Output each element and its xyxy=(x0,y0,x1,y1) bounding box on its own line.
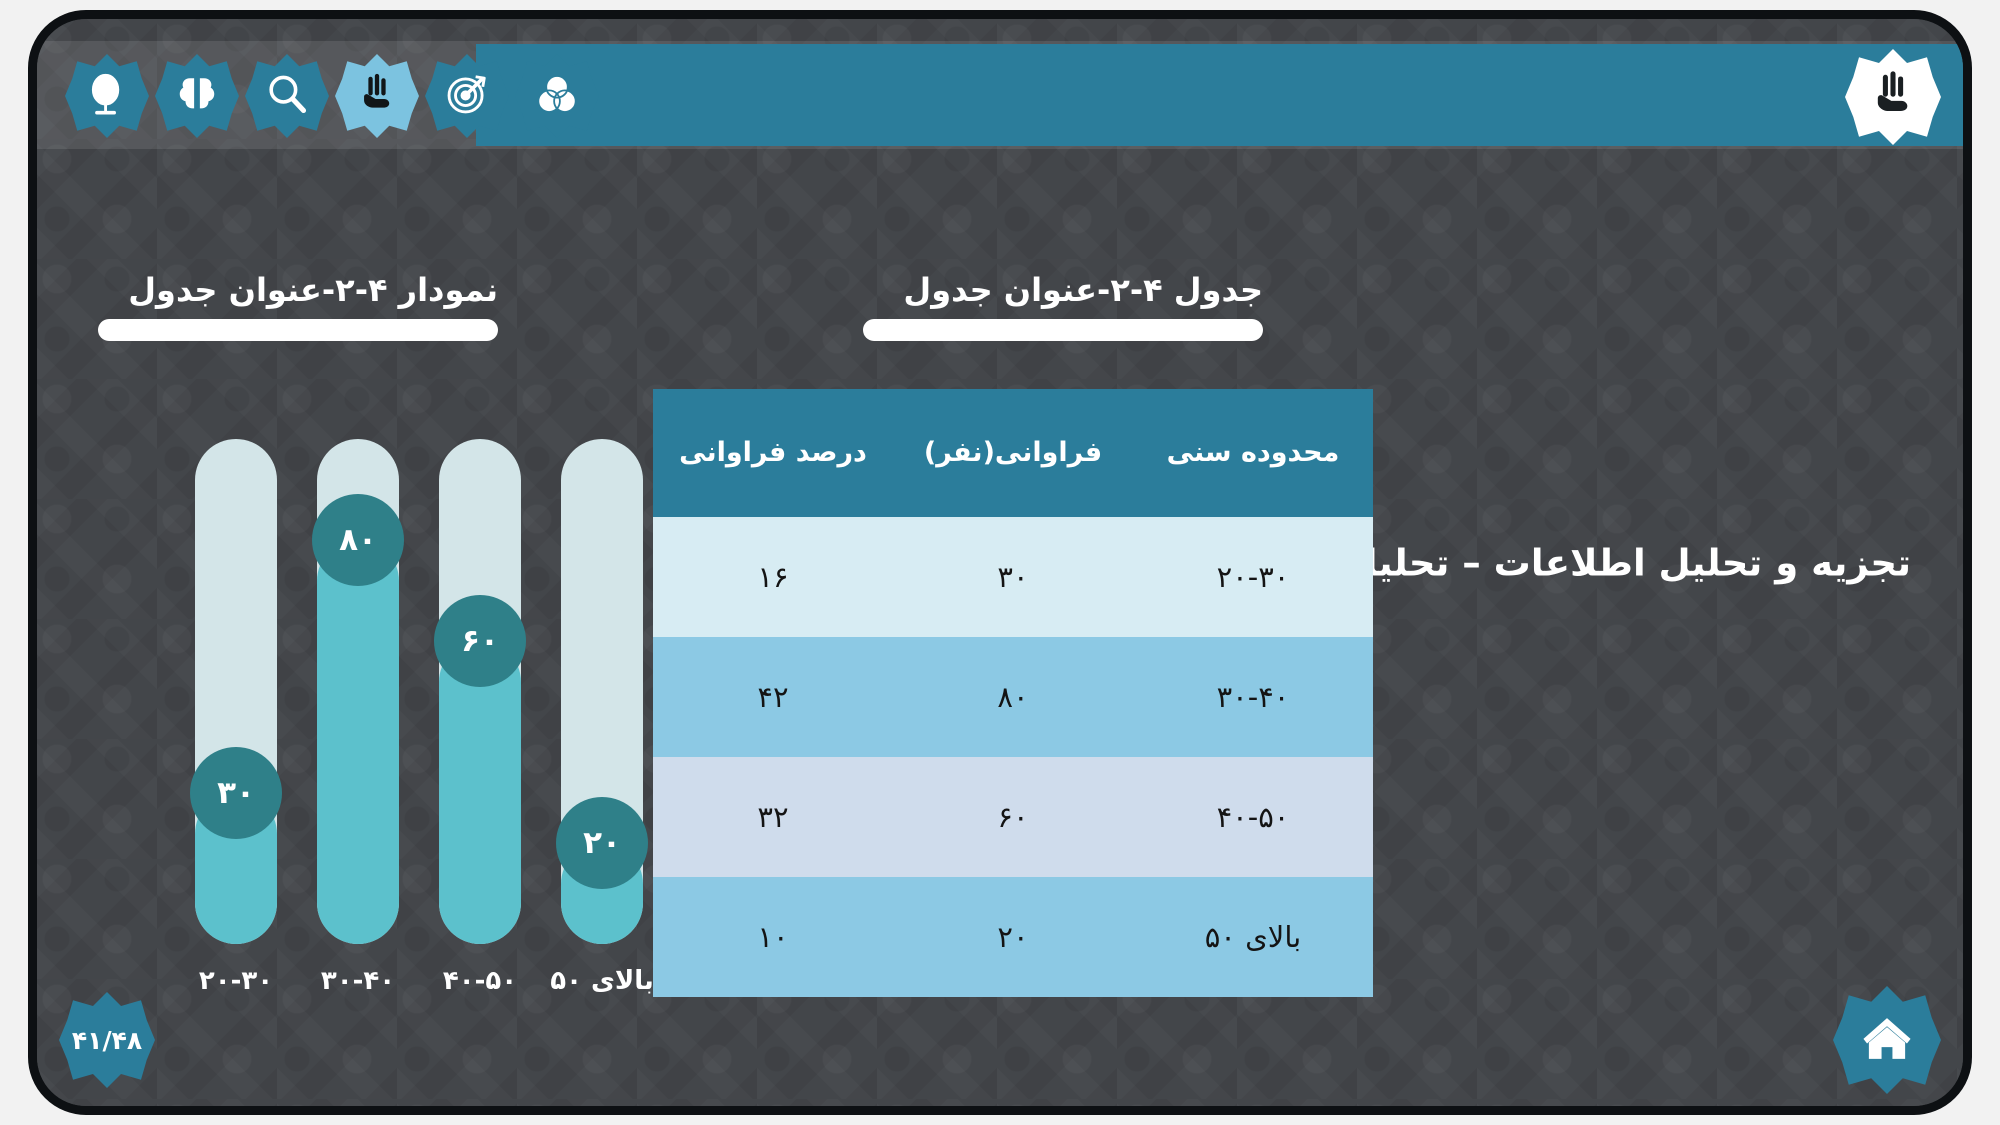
bar-category-label: ۲۰-۳۰ xyxy=(199,966,273,996)
cell-frequency: ۶۰ xyxy=(893,757,1133,877)
table-header-row: محدوده سنی فراوانی(نفر) درصد فراوانی xyxy=(653,389,1373,517)
bar-category-label: بالای ۵۰ xyxy=(550,966,654,996)
magnifier-icon xyxy=(264,71,310,121)
table-section-title: جدول ۴-۲-عنوان جدول xyxy=(903,271,1263,309)
nav-icon-hand-holding[interactable] xyxy=(335,54,419,138)
bar-category-label: ۳۰-۴۰ xyxy=(321,966,395,996)
target-icon xyxy=(444,71,490,121)
chart-bar[interactable]: ۸۰ xyxy=(317,439,399,944)
nav-icon-venn-diagram[interactable] xyxy=(515,54,599,138)
chart-bar[interactable]: ۶۰ xyxy=(439,439,521,944)
chart-bar[interactable]: ۳۰ xyxy=(195,439,277,944)
bar-value-badge: ۸۰ xyxy=(312,494,404,586)
nav-icon-brain[interactable] xyxy=(155,54,239,138)
table-row: بالای ۵۰ ۲۰ ۱۰ xyxy=(653,877,1373,997)
page-number-badge: ۴۱/۴۸ xyxy=(59,992,155,1088)
header-nav-icons xyxy=(65,47,599,145)
brain-icon xyxy=(174,71,220,121)
cell-frequency: ۳۰ xyxy=(893,517,1133,637)
chart-title-underline xyxy=(98,319,498,341)
table-row: ۴۰-۵۰ ۶۰ ۳۲ xyxy=(653,757,1373,877)
cell-frequency: ۸۰ xyxy=(893,637,1133,757)
hand-holding-icon xyxy=(354,71,400,121)
bar-value-badge: ۲۰ xyxy=(556,797,648,889)
slide-frame: تجزیه و تحلیل اطلاعات – تحلیل داده ها xyxy=(28,10,1972,1115)
cell-age-range: ۲۰-۳۰ xyxy=(1133,517,1373,637)
cell-age-range: ۳۰-۴۰ xyxy=(1133,637,1373,757)
cell-age-range: ۴۰-۵۰ xyxy=(1133,757,1373,877)
header-bar xyxy=(476,44,1963,146)
table-header-frequency: فراوانی(نفر) xyxy=(893,389,1133,517)
table-row: ۲۰-۳۰ ۳۰ ۱۶ xyxy=(653,517,1373,637)
page-number-text: ۴۱/۴۸ xyxy=(72,1026,142,1055)
bar-value-badge: ۳۰ xyxy=(190,747,282,839)
cell-frequency: ۲۰ xyxy=(893,877,1133,997)
bar-category-label: ۴۰-۵۰ xyxy=(443,966,517,996)
globe-icon xyxy=(84,71,130,121)
bar-chart: ۳۰ ۲۰-۳۰ ۸۰ ۳۰-۴۰ ۶۰ ۴۰-۵۰ ۲۰ بالای ۵۰ xyxy=(187,374,707,1014)
table-title-underline xyxy=(863,319,1263,341)
bar-fill xyxy=(317,540,399,944)
table-row: ۳۰-۴۰ ۸۰ ۴۲ xyxy=(653,637,1373,757)
bar-value-badge: ۶۰ xyxy=(434,595,526,687)
table-header-age-range: محدوده سنی xyxy=(1133,389,1373,517)
nav-icon-target[interactable] xyxy=(425,54,509,138)
home-button[interactable] xyxy=(1833,986,1941,1094)
cell-age-range: بالای ۵۰ xyxy=(1133,877,1373,997)
venn-diagram-icon xyxy=(534,71,580,121)
brand-logo xyxy=(1845,49,1941,145)
home-icon xyxy=(1858,1009,1916,1071)
frequency-table: محدوده سنی فراوانی(نفر) درصد فراوانی ۲۰-… xyxy=(653,389,1373,997)
nav-icon-magnifier[interactable] xyxy=(245,54,329,138)
chart-bar[interactable]: ۲۰ xyxy=(561,439,643,944)
nav-icon-globe[interactable] xyxy=(65,54,149,138)
hand-holding-icon xyxy=(1866,68,1920,126)
chart-section-title: نمودار ۴-۲-عنوان جدول xyxy=(128,271,498,309)
